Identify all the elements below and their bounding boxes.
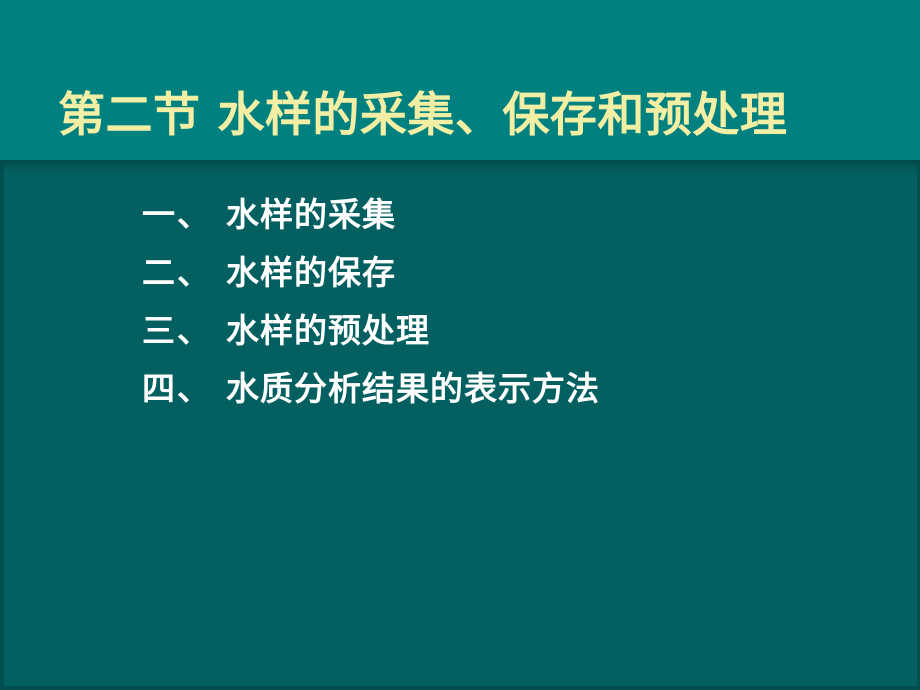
list-item-label: 水质分析结果的表示方法 (226, 369, 600, 408)
presentation-slide: 第二节 水样的采集、保存和预处理 一、水样的采集 二、水样的保存 三、水样的预处… (0, 0, 920, 690)
panel-left-edge (0, 160, 4, 690)
panel-bottom-edge (0, 686, 920, 690)
list-item[interactable]: 一、水样的采集 (142, 186, 882, 244)
outline-list: 一、水样的采集 二、水样的保存 三、水样的预处理 四、水质分析结果的表示方法 (142, 186, 882, 418)
list-item-marker: 四、 (142, 369, 212, 408)
list-item-label: 水样的保存 (226, 253, 396, 292)
list-item-marker: 二、 (142, 253, 212, 292)
page-title: 第二节 水样的采集、保存和预处理 (58, 88, 878, 144)
list-item-label: 水样的预处理 (226, 311, 430, 350)
list-item-marker: 一、 (142, 195, 212, 234)
list-item[interactable]: 四、水质分析结果的表示方法 (142, 360, 882, 418)
list-item[interactable]: 三、水样的预处理 (142, 302, 882, 360)
list-item-marker: 三、 (142, 311, 212, 350)
list-item[interactable]: 二、水样的保存 (142, 244, 882, 302)
list-item-label: 水样的采集 (226, 195, 396, 234)
banner-bottom-edge (0, 160, 920, 163)
